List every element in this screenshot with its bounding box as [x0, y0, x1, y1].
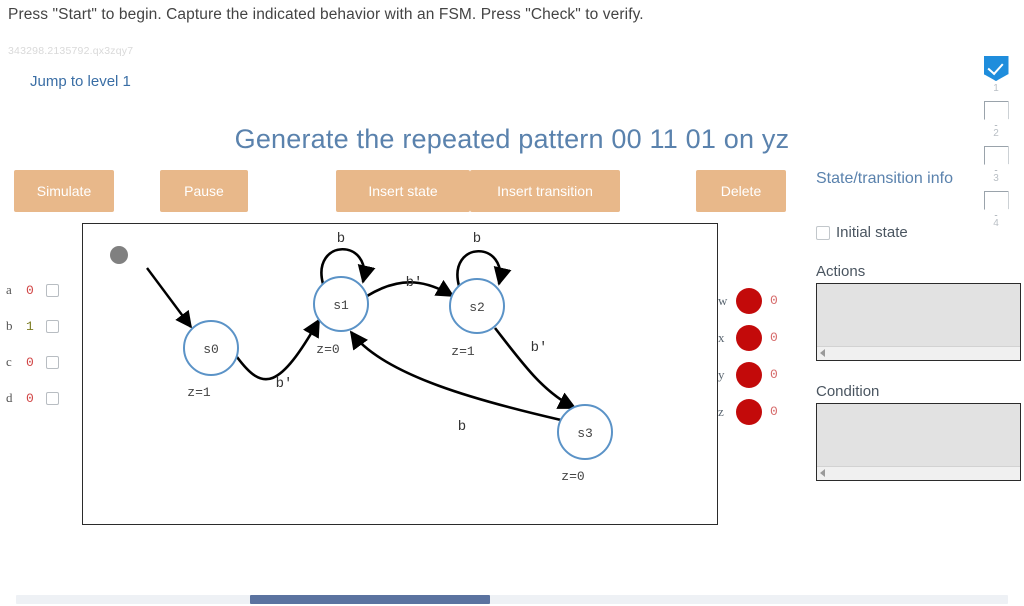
- edge-label-s1-self: b: [337, 231, 345, 247]
- output-signal-w: w 0: [718, 282, 798, 319]
- output-signal-z: z 0: [718, 393, 798, 430]
- fsm-state-s2-output: z=1: [451, 344, 475, 359]
- input-signal-a-checkbox[interactable]: [46, 284, 59, 297]
- input-signal-d-checkbox[interactable]: [46, 392, 59, 405]
- input-signal-b-checkbox[interactable]: [46, 320, 59, 333]
- input-signal-c-value: 0: [26, 355, 46, 370]
- input-signal-c-name: c: [6, 354, 26, 370]
- state-transition-info-heading: State/transition info: [816, 170, 1021, 188]
- condition-label: Condition: [816, 383, 1021, 400]
- problem-id: 343298.2135792.qx3zqy7: [8, 45, 133, 57]
- input-signal-a-value: 0: [26, 283, 46, 298]
- condition-input-scrollbar[interactable]: [817, 466, 1020, 480]
- output-signal-x-value: 0: [770, 330, 778, 345]
- fsm-state-s2-label: s2: [469, 300, 485, 315]
- input-signal-a-name: a: [6, 282, 26, 298]
- condition-input[interactable]: [816, 403, 1021, 481]
- edge-label-s1-s2: b': [406, 275, 423, 291]
- initial-state-checkbox[interactable]: [816, 226, 830, 240]
- output-signal-y-value: 0: [770, 367, 778, 382]
- input-signal-d-value: 0: [26, 391, 46, 406]
- input-signal-d-name: d: [6, 390, 26, 406]
- horizontal-scrollbar[interactable]: [16, 595, 1008, 604]
- fsm-state-s3-label: s3: [577, 426, 593, 441]
- actions-label: Actions: [816, 263, 1021, 280]
- delete-button[interactable]: Delete: [696, 170, 786, 212]
- input-signal-b-name: b: [6, 318, 26, 334]
- page-title: Generate the repeated pattern 00 11 01 o…: [0, 124, 1024, 155]
- level-badge-2[interactable]: [984, 101, 1009, 126]
- output-signal-y: y 0: [718, 356, 798, 393]
- fsm-diagram-canvas[interactable]: s0 z=1 s1 z=0 s2 z=1 s3 z=0 b' b b' b b'…: [82, 223, 718, 525]
- fsm-state-s0-label: s0: [203, 342, 219, 357]
- actions-input-scrollbar[interactable]: [817, 346, 1020, 360]
- output-signal-w-led: [736, 288, 762, 314]
- instructions-text: Press "Start" to begin. Capture the indi…: [8, 6, 908, 24]
- edge-label-s2-self: b: [473, 231, 481, 247]
- input-signal-c-checkbox[interactable]: [46, 356, 59, 369]
- output-signal-y-led: [736, 362, 762, 388]
- input-signal-c: c 0: [6, 344, 76, 380]
- state-transition-info-panel: State/transition info Initial state Acti…: [816, 170, 1021, 481]
- fsm-state-s3-output: z=0: [561, 469, 584, 484]
- scroll-left-icon[interactable]: [820, 349, 825, 357]
- input-signal-a: a 0: [6, 272, 76, 308]
- fsm-state-s0-output: z=1: [187, 385, 211, 400]
- edge-label-s0-s1: b': [276, 376, 293, 392]
- edge-label-s2-s3: b': [531, 340, 548, 356]
- simulate-button[interactable]: Simulate: [14, 170, 114, 212]
- input-signal-b-value: 1: [26, 319, 46, 334]
- edge-start-to-s0[interactable]: [147, 268, 191, 327]
- cursor-dot: [110, 246, 128, 264]
- input-signal-b: b 1: [6, 308, 76, 344]
- fsm-state-s1-output: z=0: [316, 342, 339, 357]
- scroll-left-icon[interactable]: [820, 469, 825, 477]
- insert-transition-button[interactable]: Insert transition: [470, 170, 620, 212]
- output-signal-z-name: z: [718, 404, 736, 420]
- output-signal-z-value: 0: [770, 404, 778, 419]
- pause-button[interactable]: Pause: [160, 170, 248, 212]
- output-signal-z-led: [736, 399, 762, 425]
- output-signal-x-name: x: [718, 330, 736, 346]
- input-signal-list: a 0 b 1 c 0 d 0: [6, 272, 76, 416]
- actions-input[interactable]: [816, 283, 1021, 361]
- edge-label-s3-s1: b: [458, 419, 466, 435]
- output-signal-list: w 0 x 0 y 0 z 0: [718, 282, 798, 430]
- output-signal-x: x 0: [718, 319, 798, 356]
- level-number-1: 1: [976, 83, 1016, 94]
- output-signal-y-name: y: [718, 367, 736, 383]
- edge-s0-to-s1[interactable]: [237, 320, 319, 379]
- jump-to-level-link[interactable]: Jump to level 1: [30, 73, 131, 90]
- fsm-state-s1-label: s1: [333, 298, 349, 313]
- output-signal-w-value: 0: [770, 293, 778, 308]
- initial-state-label: Initial state: [836, 224, 908, 241]
- output-signal-x-led: [736, 325, 762, 351]
- output-signal-w-name: w: [718, 293, 736, 309]
- initial-state-row: Initial state: [816, 224, 1021, 241]
- input-signal-d: d 0: [6, 380, 76, 416]
- horizontal-scrollbar-thumb[interactable]: [250, 595, 490, 604]
- insert-state-button[interactable]: Insert state: [336, 170, 470, 212]
- check-icon: [987, 59, 1003, 75]
- level-badge-1[interactable]: [984, 56, 1009, 81]
